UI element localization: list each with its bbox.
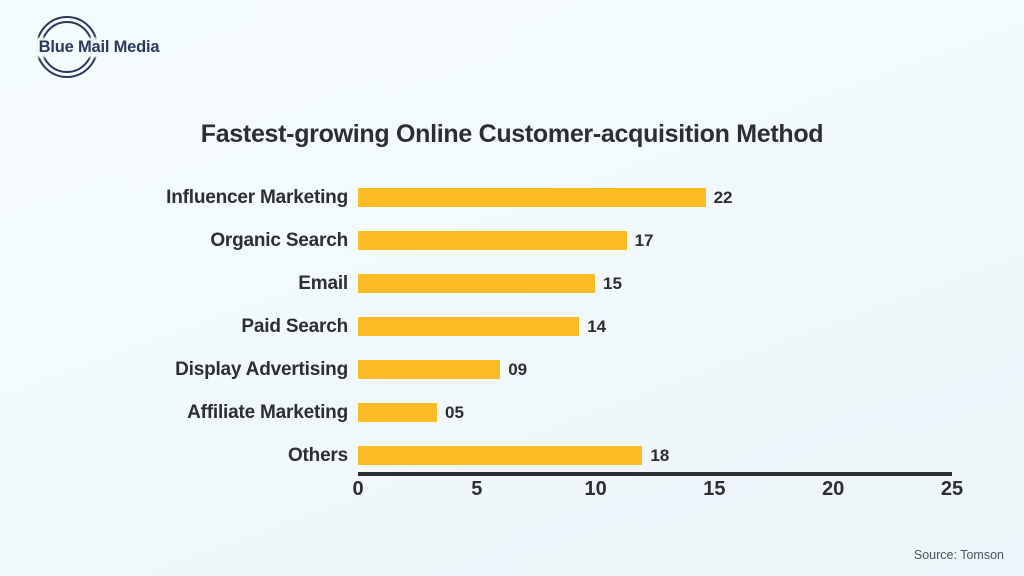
bar — [358, 403, 437, 422]
bar-with-value: 17 — [358, 231, 654, 250]
category-label: Organic Search — [0, 219, 348, 262]
bar-with-value: 22 — [358, 188, 733, 207]
bar-value-label: 14 — [587, 317, 606, 337]
bar — [358, 446, 642, 465]
x-axis-tick-label: 15 — [684, 478, 744, 501]
x-axis-tick-label: 25 — [922, 478, 982, 501]
chart-bar-row: Display Advertising09 — [0, 348, 1024, 391]
bar-with-value: 09 — [358, 360, 527, 379]
category-label: Display Advertising — [0, 348, 348, 391]
chart-bar-row: Paid Search14 — [0, 305, 1024, 348]
chart-bar-row: Organic Search17 — [0, 219, 1024, 262]
category-label: Email — [0, 262, 348, 305]
category-label: Others — [0, 434, 348, 477]
brand-logo: Blue Mail Media — [14, 12, 184, 82]
bar — [358, 274, 595, 293]
bar-value-label: 17 — [635, 231, 654, 251]
category-label: Paid Search — [0, 305, 348, 348]
logo-text: Blue Mail Media — [18, 36, 180, 59]
x-axis-tick-label: 20 — [803, 478, 863, 501]
category-label: Affiliate Marketing — [0, 391, 348, 434]
bar-value-label: 15 — [603, 274, 622, 294]
chart-bar-row: Affiliate Marketing05 — [0, 391, 1024, 434]
chart-bar-row: Influencer Marketing22 — [0, 176, 1024, 219]
chart-bar-row: Others18 — [0, 434, 1024, 477]
bar-value-label: 22 — [714, 188, 733, 208]
category-label: Influencer Marketing — [0, 176, 348, 219]
bar-value-label: 05 — [445, 403, 464, 423]
bar — [358, 360, 500, 379]
x-axis-line — [358, 472, 952, 476]
x-axis-tick-label: 5 — [447, 478, 507, 501]
bar-value-label: 18 — [650, 446, 669, 466]
x-axis-tick-label: 0 — [328, 478, 388, 501]
bar-value-label: 09 — [508, 360, 527, 380]
bar — [358, 188, 706, 207]
chart-bar-row: Email15 — [0, 262, 1024, 305]
source-attribution: Source: Tomson — [914, 548, 1004, 562]
bar-with-value: 14 — [358, 317, 606, 336]
bar-with-value: 15 — [358, 274, 622, 293]
chart-title: Fastest-growing Online Customer-acquisit… — [0, 120, 1024, 149]
bar-with-value: 05 — [358, 403, 464, 422]
bar — [358, 231, 627, 250]
bar-with-value: 18 — [358, 446, 669, 465]
x-axis-tick-label: 10 — [566, 478, 626, 501]
x-axis-tick-labels: 0510152025 — [0, 478, 1024, 508]
bar — [358, 317, 579, 336]
chart-plot-area: Influencer Marketing22Organic Search17Em… — [0, 176, 1024, 476]
